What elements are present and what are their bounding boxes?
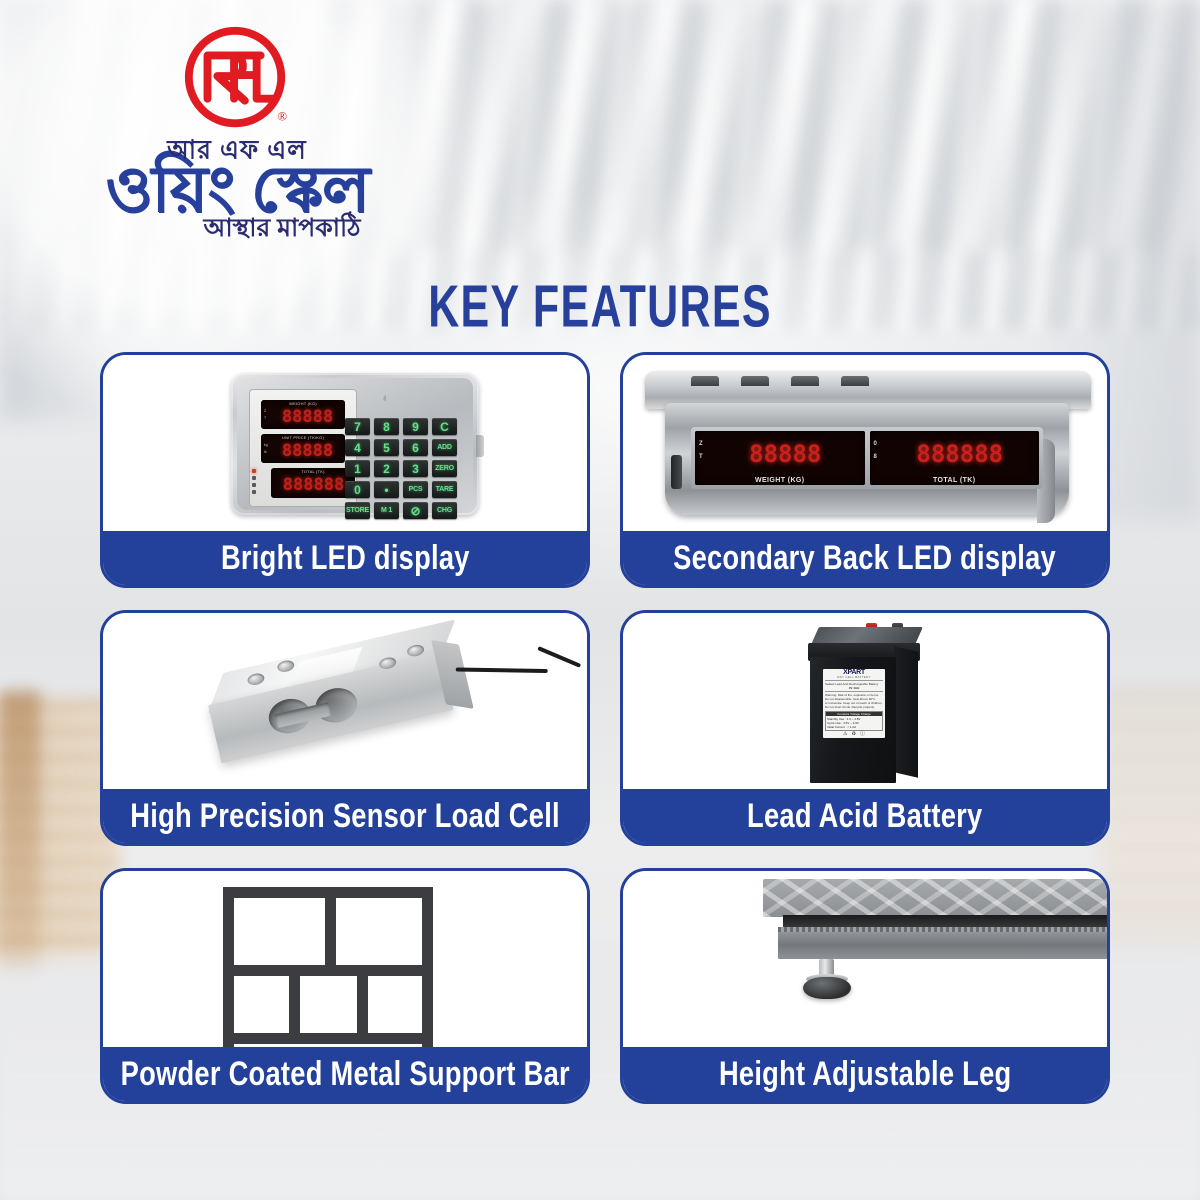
load-cell-cable <box>456 667 548 673</box>
battery-warning-text: Warning: Risk of fire, explosion or burn… <box>825 693 883 709</box>
key-1[interactable]: 1 <box>345 460 370 477</box>
feature-grid: ◐ WEIGHT (KG) ZT 88888 UNIT PRICE (TK/KG… <box>100 352 1110 1104</box>
indicator-faceplate: ◐ WEIGHT (KG) ZT 88888 UNIT PRICE (TK/KG… <box>237 378 473 510</box>
battery-spec-line-3: Initial Current : < 1.2A <box>827 725 881 729</box>
feature-card-powder-coated-metal-support-bar[interactable]: Powder Coated Metal Support Bar <box>100 868 590 1104</box>
feature-card-secondary-back-led-display[interactable]: ZT 88888 WEIGHT (KG) 08 888888 TOTAL (TK… <box>620 352 1110 588</box>
feature-caption-banner: High Precision Sensor Load Cell <box>103 789 587 843</box>
key-add[interactable]: ADD <box>432 439 457 456</box>
back-knob-4-icon <box>841 376 869 386</box>
feature-caption-text: Height Adjustable Leg <box>719 1054 1012 1094</box>
feature-caption-text: High Precision Sensor Load Cell <box>130 796 560 836</box>
status-lamp-3-icon <box>252 483 256 487</box>
feature-caption-banner: Bright LED display <box>103 531 587 585</box>
brand-tagline-bn: আস্থার মাপকাঠি <box>42 216 432 241</box>
key-5[interactable]: 5 <box>374 439 399 456</box>
adjustable-leg-foot-pad <box>803 977 851 999</box>
key-4[interactable]: 4 <box>345 439 370 456</box>
unit-price-led-digits: 88888 <box>273 440 342 461</box>
feature-caption-banner: Powder Coated Metal Support Bar <box>103 1047 587 1101</box>
key-0[interactable]: 0 <box>345 481 370 498</box>
svg-text:®: ® <box>277 109 287 123</box>
battery-charge-spec-head: Constant Voltage Charge <box>826 712 882 716</box>
page-title: KEY FEATURES <box>84 272 1116 340</box>
key-8[interactable]: 8 <box>374 418 399 435</box>
feature-image-support-bar <box>103 871 587 1047</box>
support-bar-lower-divider-1 <box>289 965 300 1037</box>
unit-price-led-window: UNIT PRICE (TK/KG) kgtk 88888 <box>261 434 345 463</box>
battery-side-face <box>894 646 918 778</box>
feature-caption-banner: Secondary Back LED display <box>623 531 1107 585</box>
load-cell-body <box>202 619 482 787</box>
indicator-side-tab <box>476 435 484 457</box>
back-total-digits: 888888 <box>886 436 1035 472</box>
feature-card-lead-acid-battery[interactable]: XPART DRY CELL BATTERY Sealed Lead Acid … <box>620 610 1110 846</box>
brand-product-bn: ওয়িং স্কেল <box>42 159 432 220</box>
key-chg[interactable]: CHG <box>432 502 457 519</box>
total-led-digits: 888888 <box>275 474 352 496</box>
back-display-screen: ZT 88888 WEIGHT (KG) 08 888888 TOTAL (TK… <box>691 427 1043 489</box>
feature-image-adjustable-leg <box>623 871 1107 1047</box>
back-weight-digits: 88888 <box>711 436 860 472</box>
key-store[interactable]: STORE <box>345 502 370 519</box>
battery-voltage: 4V 4AH <box>825 686 883 690</box>
key-pcs[interactable]: PCS <box>403 481 428 498</box>
key-2[interactable]: 2 <box>374 460 399 477</box>
status-lamp-2-icon <box>252 476 256 480</box>
feature-caption-text: Lead Acid Battery <box>747 796 982 836</box>
back-weight-window: ZT 88888 WEIGHT (KG) <box>695 431 865 485</box>
feature-image-load-cell <box>103 613 587 789</box>
load-cell-cable-tail <box>537 646 581 668</box>
feature-caption-banner: Height Adjustable Leg <box>623 1047 1107 1101</box>
battery-brand-sub: DRY CELL BATTERY <box>825 675 883 679</box>
key-7[interactable]: 7 <box>345 418 370 435</box>
key-tare[interactable]: TARE <box>432 481 457 498</box>
battery-front-face: XPART DRY CELL BATTERY Sealed Lead Acid … <box>810 657 896 783</box>
feature-image-battery: XPART DRY CELL BATTERY Sealed Lead Acid … <box>623 613 1107 789</box>
support-bar-right-post <box>422 887 433 1047</box>
indicator-housing: ◐ WEIGHT (KG) ZT 88888 UNIT PRICE (TK/KG… <box>231 373 479 515</box>
brand-company-bn: আর এফ এল <box>42 137 432 163</box>
back-weight-label: WEIGHT (KG) <box>695 477 865 484</box>
indicator-emblem-icon: ◐ <box>369 390 403 414</box>
weight-led-window: WEIGHT (KG) ZT 88888 <box>261 400 345 429</box>
battery-label-divider-2 <box>825 691 883 692</box>
back-knob-3-icon <box>791 376 819 386</box>
no-fire-icon: ⚠ <box>843 732 847 736</box>
support-bar-frame <box>223 887 433 1047</box>
key-3[interactable]: 3 <box>403 460 428 477</box>
key-decimal-point[interactable]: • <box>374 481 399 498</box>
battery-body: XPART DRY CELL BATTERY Sealed Lead Acid … <box>808 627 928 785</box>
feature-card-height-adjustable-leg[interactable]: Height Adjustable Leg <box>620 868 1110 1104</box>
indicator-keypad[interactable]: 7 8 9 C 4 5 6 ADD 1 2 3 ZERO 0 <box>345 418 457 519</box>
back-knob-2-icon <box>741 376 769 386</box>
feature-image-back-display: ZT 88888 WEIGHT (KG) 08 888888 TOTAL (TK… <box>623 355 1107 531</box>
recycle-icon: ♻ <box>851 732 855 736</box>
scale-checker-plate <box>763 879 1107 917</box>
status-lamp-group <box>252 469 256 497</box>
feature-card-bright-led-display[interactable]: ◐ WEIGHT (KG) ZT 88888 UNIT PRICE (TK/KG… <box>100 352 590 588</box>
total-led-window: TOTAL (TK) 888888 <box>271 468 355 498</box>
status-lamp-4-icon <box>252 490 256 494</box>
battery-symbol-row: ⚠ ♻ ⓘ <box>825 732 883 736</box>
key-zero[interactable]: ZERO <box>432 460 457 477</box>
feature-caption-text: Secondary Back LED display <box>674 538 1057 578</box>
weight-led-flags: ZT <box>264 408 266 422</box>
status-lamp-1-icon <box>252 469 256 473</box>
scale-frame-edge <box>778 927 1107 932</box>
back-knob-1-icon <box>691 376 719 386</box>
back-total-flags: 08 <box>874 438 877 464</box>
battery-spec-label: XPART DRY CELL BATTERY Sealed Lead Acid … <box>823 669 885 738</box>
unit-price-led-flags: kgtk <box>264 442 268 456</box>
battery-label-divider-1 <box>825 680 883 681</box>
brand-logo: ® আর এফ এল ওয়িং স্কেল আস্থার মাপকাঠি <box>42 22 432 247</box>
back-total-window: 08 888888 TOTAL (TK) <box>870 431 1040 485</box>
weight-led-digits: 88888 <box>273 406 342 427</box>
support-bar-bottom-rail <box>223 1033 433 1044</box>
feature-card-high-precision-sensor-load-cell[interactable]: High Precision Sensor Load Cell <box>100 610 590 846</box>
support-bar-left-post <box>223 887 234 1047</box>
back-display-housing: ZT 88888 WEIGHT (KG) 08 888888 TOTAL (TK… <box>665 403 1069 515</box>
feature-caption-text: Bright LED display <box>221 538 470 578</box>
battery-charge-spec-box: Constant Voltage Charge Standby Use : 4.… <box>825 711 883 731</box>
feature-caption-text: Powder Coated Metal Support Bar <box>120 1054 569 1094</box>
feature-image-indicator-head: ◐ WEIGHT (KG) ZT 88888 UNIT PRICE (TK/KG… <box>103 355 587 531</box>
key-clear[interactable]: C <box>432 418 457 435</box>
key-memory-1[interactable]: M 1 <box>374 502 399 519</box>
manual-icon: ⓘ <box>860 732 865 736</box>
feature-caption-banner: Lead Acid Battery <box>623 789 1107 843</box>
key-6[interactable]: 6 <box>403 439 428 456</box>
support-bar-upper-divider <box>325 887 336 971</box>
key-power-icon[interactable]: ⊘ <box>403 502 428 519</box>
support-bar-lower-divider-2 <box>357 965 368 1037</box>
back-display-bracket <box>671 455 682 489</box>
rfl-logo-icon: ® <box>178 22 296 140</box>
back-total-label: TOTAL (TK) <box>870 477 1040 484</box>
indicator-display-panel: WEIGHT (KG) ZT 88888 UNIT PRICE (TK/KG) … <box>249 389 357 507</box>
key-9[interactable]: 9 <box>403 418 428 435</box>
back-weight-flags: ZT <box>699 438 703 464</box>
